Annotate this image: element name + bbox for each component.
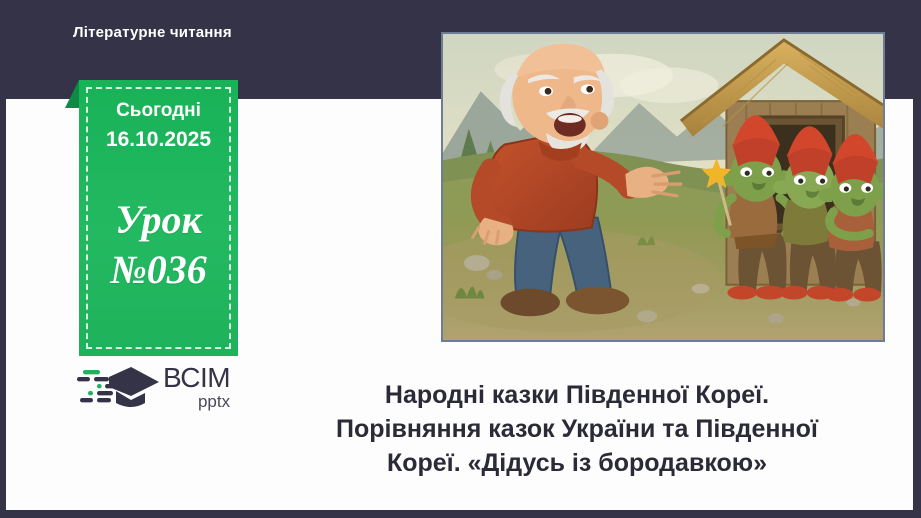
brand-wordmark: ВСІМ pptx (163, 364, 230, 410)
brand-sub: pptx (163, 393, 230, 410)
fairytale-illustration (443, 34, 883, 340)
slide-canvas: Літературне читання Сьогодні 16.10.2025 … (0, 0, 921, 518)
page-title-line-2: Порівняння казок України та Південної (247, 412, 907, 446)
brand-name: ВСІМ (163, 364, 230, 392)
page-title-line-1: Народні казки Південної Кореї. (247, 378, 907, 412)
page-title: Народні казки Південної Кореї. Порівнянн… (247, 378, 907, 480)
lesson-word: Урок (79, 195, 238, 245)
lesson-number-block: Урок №036 (79, 195, 238, 295)
today-label: Сьогодні (79, 100, 238, 122)
illustration-frame (441, 32, 885, 342)
page-title-line-3: Кореї. «Дідусь із бородавкою» (247, 446, 907, 480)
today-date: 16.10.2025 (79, 128, 238, 152)
subject-title: Літературне читання (73, 24, 232, 41)
date-lesson-banner: Сьогодні 16.10.2025 Урок №036 (79, 80, 238, 356)
graduation-cap-icon (75, 363, 161, 411)
lesson-number: №036 (79, 245, 238, 295)
brand-logo: ВСІМ pptx (75, 362, 250, 412)
banner-fold-corner (65, 80, 79, 108)
